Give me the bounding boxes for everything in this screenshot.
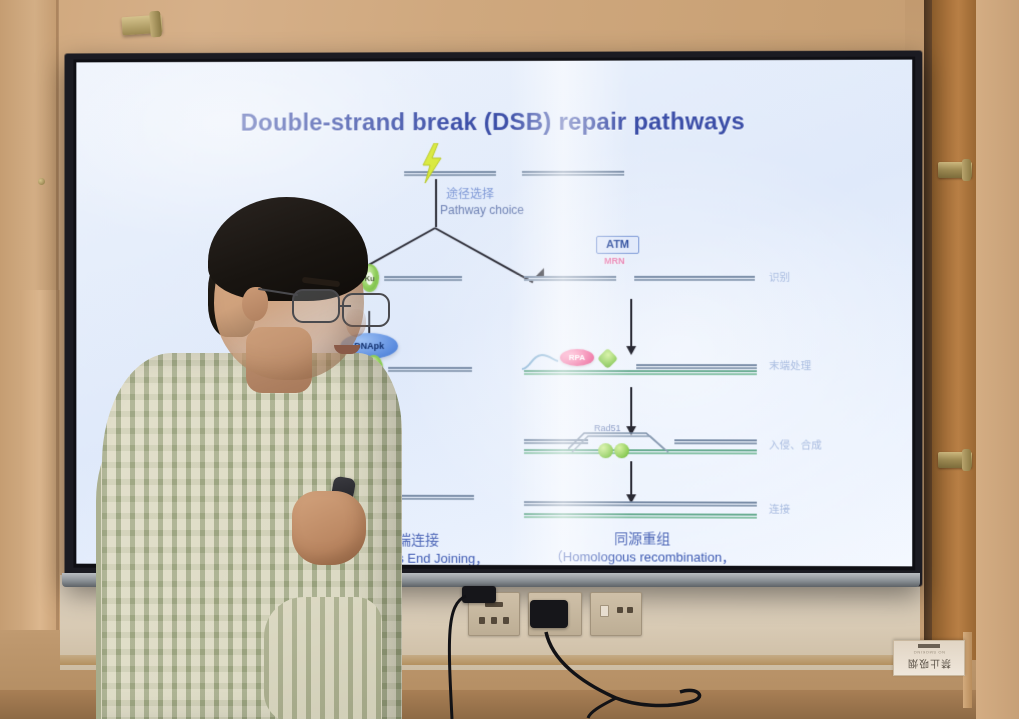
cabinet-door[interactable] bbox=[932, 0, 976, 660]
pathway-choice-label-en: Pathway choice bbox=[440, 203, 524, 217]
pathway-choice-label-cn: 途径选择 bbox=[446, 185, 494, 202]
hr-caption-en-1: （Homologous recombination， bbox=[512, 548, 773, 566]
hr-step-label-4: 连接 bbox=[769, 502, 790, 517]
presenter-hand bbox=[292, 491, 366, 565]
screw-icon bbox=[38, 178, 45, 185]
branch-left bbox=[435, 227, 534, 283]
arrow-down-hr-1 bbox=[630, 299, 632, 347]
hinge-icon bbox=[938, 452, 972, 468]
no-smoking-sign: 禁止吸烟 NO SMOKING bbox=[893, 640, 965, 676]
rad51-subunit-icon bbox=[598, 443, 613, 458]
hinge-knuckle bbox=[962, 159, 971, 181]
arrow-down-hr-2 bbox=[630, 387, 632, 427]
glasses-bridge bbox=[339, 305, 351, 307]
power-cable bbox=[440, 590, 740, 719]
wall-right bbox=[976, 0, 1019, 719]
hr-step-label-2: 末端处理 bbox=[769, 358, 811, 373]
dna-hr-step1 bbox=[524, 276, 755, 284]
presenter-ear bbox=[242, 287, 268, 321]
rad51-subunit-icon bbox=[614, 443, 629, 458]
arrow-down-hr-3 bbox=[630, 461, 632, 495]
hr-caption-cn: 同源重组 bbox=[512, 529, 773, 549]
hr-step-label-1: 识别 bbox=[769, 270, 790, 285]
rpa-label: RPA bbox=[569, 353, 585, 362]
dna-hr-step4 bbox=[524, 501, 757, 516]
presenter-arm-right bbox=[264, 597, 382, 719]
protein-mrn: MRN bbox=[604, 256, 625, 266]
lightning-bolt-icon bbox=[419, 143, 445, 183]
hr-step-label-3: 入侵、合成 bbox=[769, 437, 822, 452]
slide-title: Double-strand break (DSB) repair pathway… bbox=[76, 108, 912, 138]
protein-rpa: RPA bbox=[560, 349, 594, 366]
hinge-icon bbox=[121, 15, 162, 36]
hr-caption: 同源重组 （Homologous recombination， HR） bbox=[512, 529, 773, 566]
resected-ssdna-icon bbox=[520, 347, 560, 373]
presenter-hair bbox=[208, 197, 368, 301]
hinge-icon bbox=[938, 162, 972, 178]
branch-stem bbox=[435, 179, 437, 227]
hinge-knuckle bbox=[962, 449, 971, 471]
protein-atm: ATM bbox=[596, 236, 639, 254]
sign-bar bbox=[918, 644, 940, 648]
glasses-lens-left bbox=[292, 289, 340, 323]
wall-bracket-top-left bbox=[60, 6, 112, 36]
sign-text-cn: 禁止吸烟 bbox=[907, 657, 951, 672]
presenter-nose bbox=[346, 309, 366, 337]
lecture-room-scene: Double-strand break (DSB) repair pathway… bbox=[0, 0, 1019, 719]
presenter bbox=[96, 205, 426, 719]
sign-text-en: NO SMOKING bbox=[913, 650, 945, 655]
